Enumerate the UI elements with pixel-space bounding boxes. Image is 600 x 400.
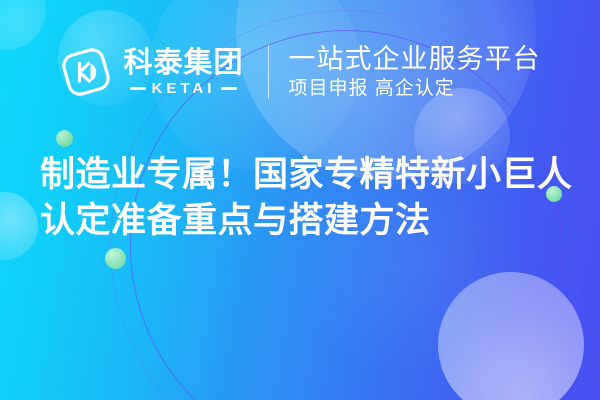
promo-banner: 科泰集团 KETAI 一站式企业服务平台 项目申报 高企认定 制造业专属！国家专… [0,0,600,400]
header-divider [268,45,269,99]
brand-name-en: KETAI [152,81,216,97]
ketai-monogram-kd-icon [59,45,113,99]
slogan-main-text: 一站式企业服务平台 [289,44,541,75]
headline-line-2: 认定准备重点与搭建方法 [40,198,564,244]
headline: 制造业专属！国家专精特新小巨人 认定准备重点与搭建方法 [40,152,564,244]
slogan-sub-text: 项目申报 高企认定 [289,77,541,101]
brand-lockup: 科泰集团 KETAI [59,45,243,99]
brand-rule-left-icon [130,87,146,90]
headline-line-1: 制造业专属！国家专精特新小巨人 [40,152,564,198]
background-large-light-circle [438,272,584,400]
brand-rule-right-icon [221,87,237,90]
brand-name-en-row: KETAI [130,81,238,97]
brand-name-cn: 科泰集团 [123,48,243,79]
brand-wordmark: 科泰集团 KETAI [123,48,243,97]
slogan-block: 一站式企业服务平台 项目申报 高企认定 [289,44,541,101]
background-left-light-circle [0,192,38,260]
green-dot-icon-1 [56,130,73,147]
banner-header: 科泰集团 KETAI 一站式企业服务平台 项目申报 高企认定 [0,36,600,108]
green-dot-icon-2 [105,248,126,269]
